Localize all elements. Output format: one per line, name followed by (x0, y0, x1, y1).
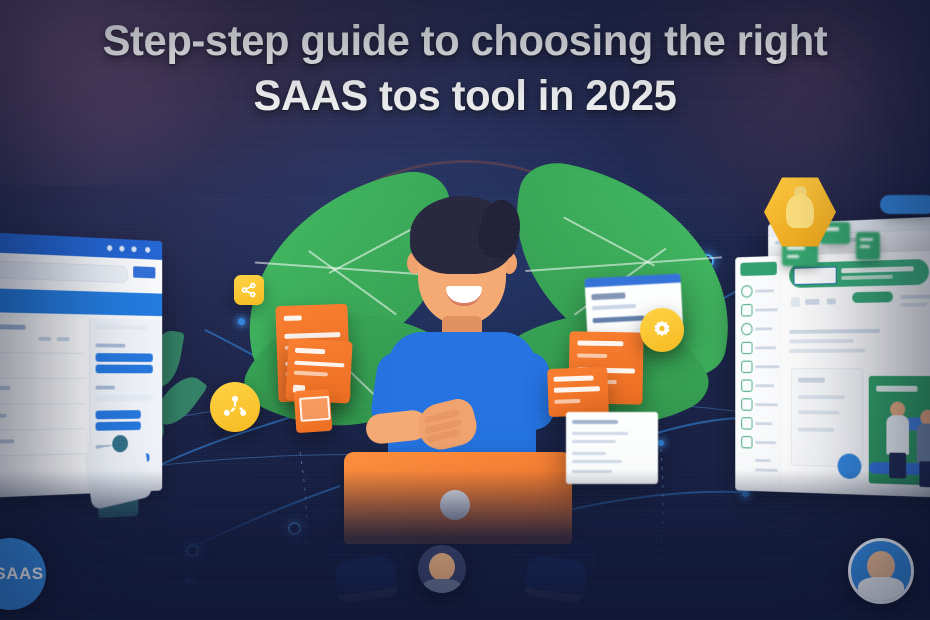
sidebar-icon-6 (741, 380, 752, 392)
refresh-icon (107, 245, 112, 251)
menu-icon (145, 247, 150, 253)
sidebar-icon-4 (741, 342, 752, 354)
avatar-center[interactable] (418, 545, 466, 593)
sidebar-icon-2 (741, 304, 752, 316)
sidebar-icon-3 (741, 323, 752, 335)
network-coin-badge[interactable] (210, 382, 260, 432)
avatar-right[interactable] (848, 538, 914, 604)
cart-icon (119, 246, 124, 252)
right-cta-pill[interactable] (852, 291, 893, 303)
right-sidebar-logo (740, 262, 776, 276)
page-title: Step-step guide to choosing the right SA… (14, 14, 916, 124)
share-coin-badge[interactable] (234, 275, 264, 305)
left-primary-button[interactable] (133, 266, 155, 278)
orange-card-3[interactable] (294, 389, 333, 433)
sidebar-icon-7 (741, 398, 752, 410)
floor-gradient (0, 470, 930, 620)
sidebar-icon-8 (741, 417, 752, 429)
eye-icon (131, 246, 136, 252)
green-chip-3 (856, 232, 880, 260)
headline-line-1: Step-step guide to choosing the right (14, 14, 916, 69)
orange-card-5[interactable] (547, 367, 609, 417)
saas-badge-label: SAAS (0, 564, 44, 584)
gear-coin-badge[interactable] (640, 308, 684, 352)
hero-illustration: SAAS Step-step guide to choosing the rig… (0, 0, 930, 620)
right-banner-logo (794, 267, 837, 286)
headline-line-2: SAAS tos tool in 2025 (14, 69, 916, 124)
left-search-input[interactable] (0, 260, 128, 283)
right-sidebar[interactable] (735, 256, 783, 492)
sidebar-icon-5 (741, 361, 752, 373)
left-section-banner (0, 288, 162, 316)
sidebar-icon-9 (741, 436, 752, 448)
top-right-pill-button[interactable] (880, 195, 930, 214)
sidebar-icon-1 (741, 285, 752, 298)
